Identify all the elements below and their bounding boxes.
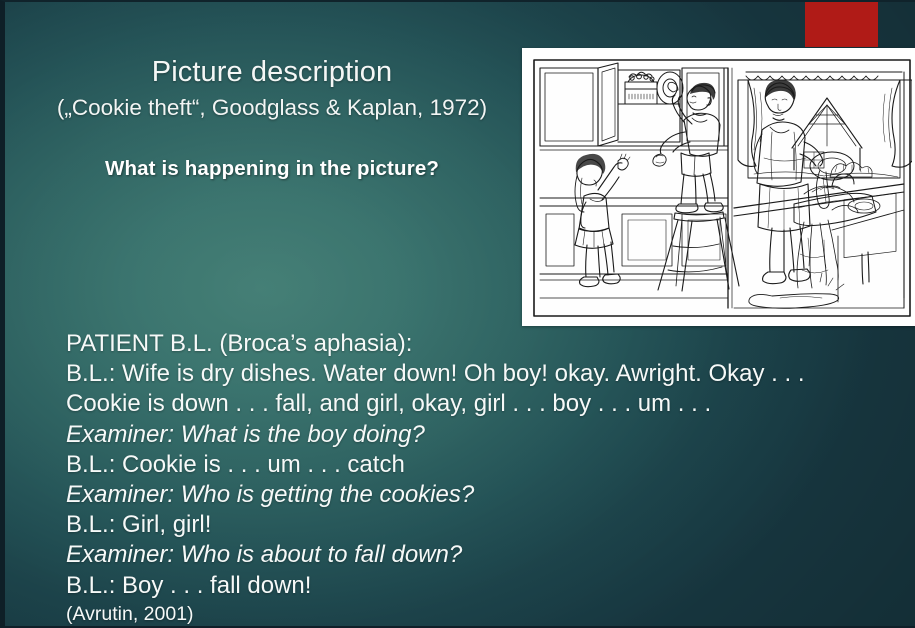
slide-subtitle: („Cookie theft“, Goodglass & Kaplan, 197… xyxy=(23,95,521,120)
transcript-line: B.L.: Boy . . . fall down! xyxy=(66,571,911,601)
transcript-line: Examiner: What is the boy doing? xyxy=(66,420,911,450)
prompt-question: What is happening in the picture? xyxy=(23,157,521,181)
page-title: Picture description xyxy=(23,58,521,87)
cookie-theft-line-drawing xyxy=(532,58,912,318)
transcript-line: Cookie is down . . . fall, and girl, oka… xyxy=(66,389,911,419)
transcript-line: B.L.: Wife is dry dishes. Water down! Oh… xyxy=(66,359,911,389)
transcript-block: PATIENT B.L. (Broca’s aphasia): B.L.: Wi… xyxy=(66,329,911,628)
transcript-line: B.L.: Cookie is . . . um . . . catch xyxy=(66,450,911,480)
cookie-theft-picture xyxy=(522,48,915,326)
title-group: Picture description („Cookie theft“, Goo… xyxy=(23,58,521,120)
picture-inner xyxy=(532,58,912,318)
transcript-line: PATIENT B.L. (Broca’s aphasia): xyxy=(66,329,911,359)
transcript-line: Examiner: Who is getting the cookies? xyxy=(66,480,911,510)
source-citation: (Avrutin, 2001) xyxy=(66,601,911,628)
transcript-line: Examiner: Who is about to fall down? xyxy=(66,540,911,570)
presentation-slide: Picture description („Cookie theft“, Goo… xyxy=(0,0,915,628)
red-accent-block xyxy=(805,1,878,47)
transcript-line: B.L.: Girl, girl! xyxy=(66,510,911,540)
